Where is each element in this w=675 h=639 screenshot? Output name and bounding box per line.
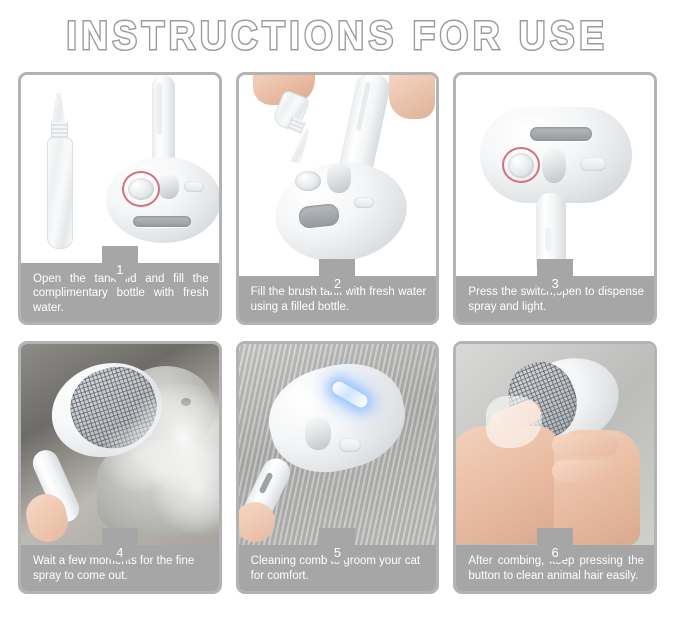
center-knob	[542, 149, 566, 183]
steps-grid: 1 Open the tank lid and fill the complim…	[0, 72, 675, 612]
step-caption-6: 6 After combing, keep pressing the butto…	[456, 545, 654, 591]
step-image-6	[456, 344, 654, 545]
finger	[552, 434, 618, 456]
step-image-3	[456, 75, 654, 276]
device-body	[106, 157, 219, 243]
step-caption-2: 2 Fill the brush tank with fresh water u…	[239, 276, 437, 322]
center-knob	[327, 163, 351, 193]
device-vent	[133, 216, 191, 227]
page-title: INSTRUCTIONS FOR USE	[67, 14, 609, 59]
hand-secondary	[389, 75, 435, 119]
step-card-6: 6 After combing, keep pressing the butto…	[453, 341, 657, 594]
spray-mist	[99, 422, 177, 492]
tank-lid-open	[295, 171, 321, 191]
step-card-3: 3 Press the switch,open to dispense spra…	[453, 72, 657, 325]
side-button	[339, 438, 361, 452]
handle-slot	[157, 83, 162, 135]
side-button	[580, 157, 606, 171]
page-title-container: INSTRUCTIONS FOR USE	[0, 0, 675, 72]
side-button	[184, 181, 204, 192]
highlight-ring-icon	[122, 171, 160, 207]
bottle-neck	[51, 122, 68, 138]
step-card-1: 1 Open the tank lid and fill the complim…	[18, 72, 222, 325]
device-vent	[530, 127, 592, 141]
step-card-5: 5 Cleaning comb to groom your cat for co…	[236, 341, 440, 594]
step-caption-1: 1 Open the tank lid and fill the complim…	[21, 263, 219, 323]
side-button	[354, 197, 374, 208]
center-knob	[158, 175, 179, 199]
step-image-1	[21, 75, 219, 263]
step-caption-4: 4 Wait a few moments for the fine spray …	[21, 545, 219, 591]
handle-slot	[545, 227, 551, 251]
hand	[239, 502, 275, 542]
step-image-2	[239, 75, 437, 276]
step-card-2: 2 Fill the brush tank with fresh water u…	[236, 72, 440, 325]
bottle-tip	[51, 93, 66, 125]
step-card-4: 4 Wait a few moments for the fine spray …	[18, 341, 222, 594]
step-image-5	[239, 344, 437, 545]
step-caption-3: 3 Press the switch,open to dispense spra…	[456, 276, 654, 322]
instructions-page: INSTRUCTIONS FOR USE	[0, 0, 675, 639]
bottle-body	[47, 137, 73, 249]
step-image-4	[21, 344, 219, 545]
step-caption-5: 5 Cleaning comb to groom your cat for co…	[239, 545, 437, 591]
finger	[552, 460, 614, 482]
center-knob	[305, 418, 331, 450]
